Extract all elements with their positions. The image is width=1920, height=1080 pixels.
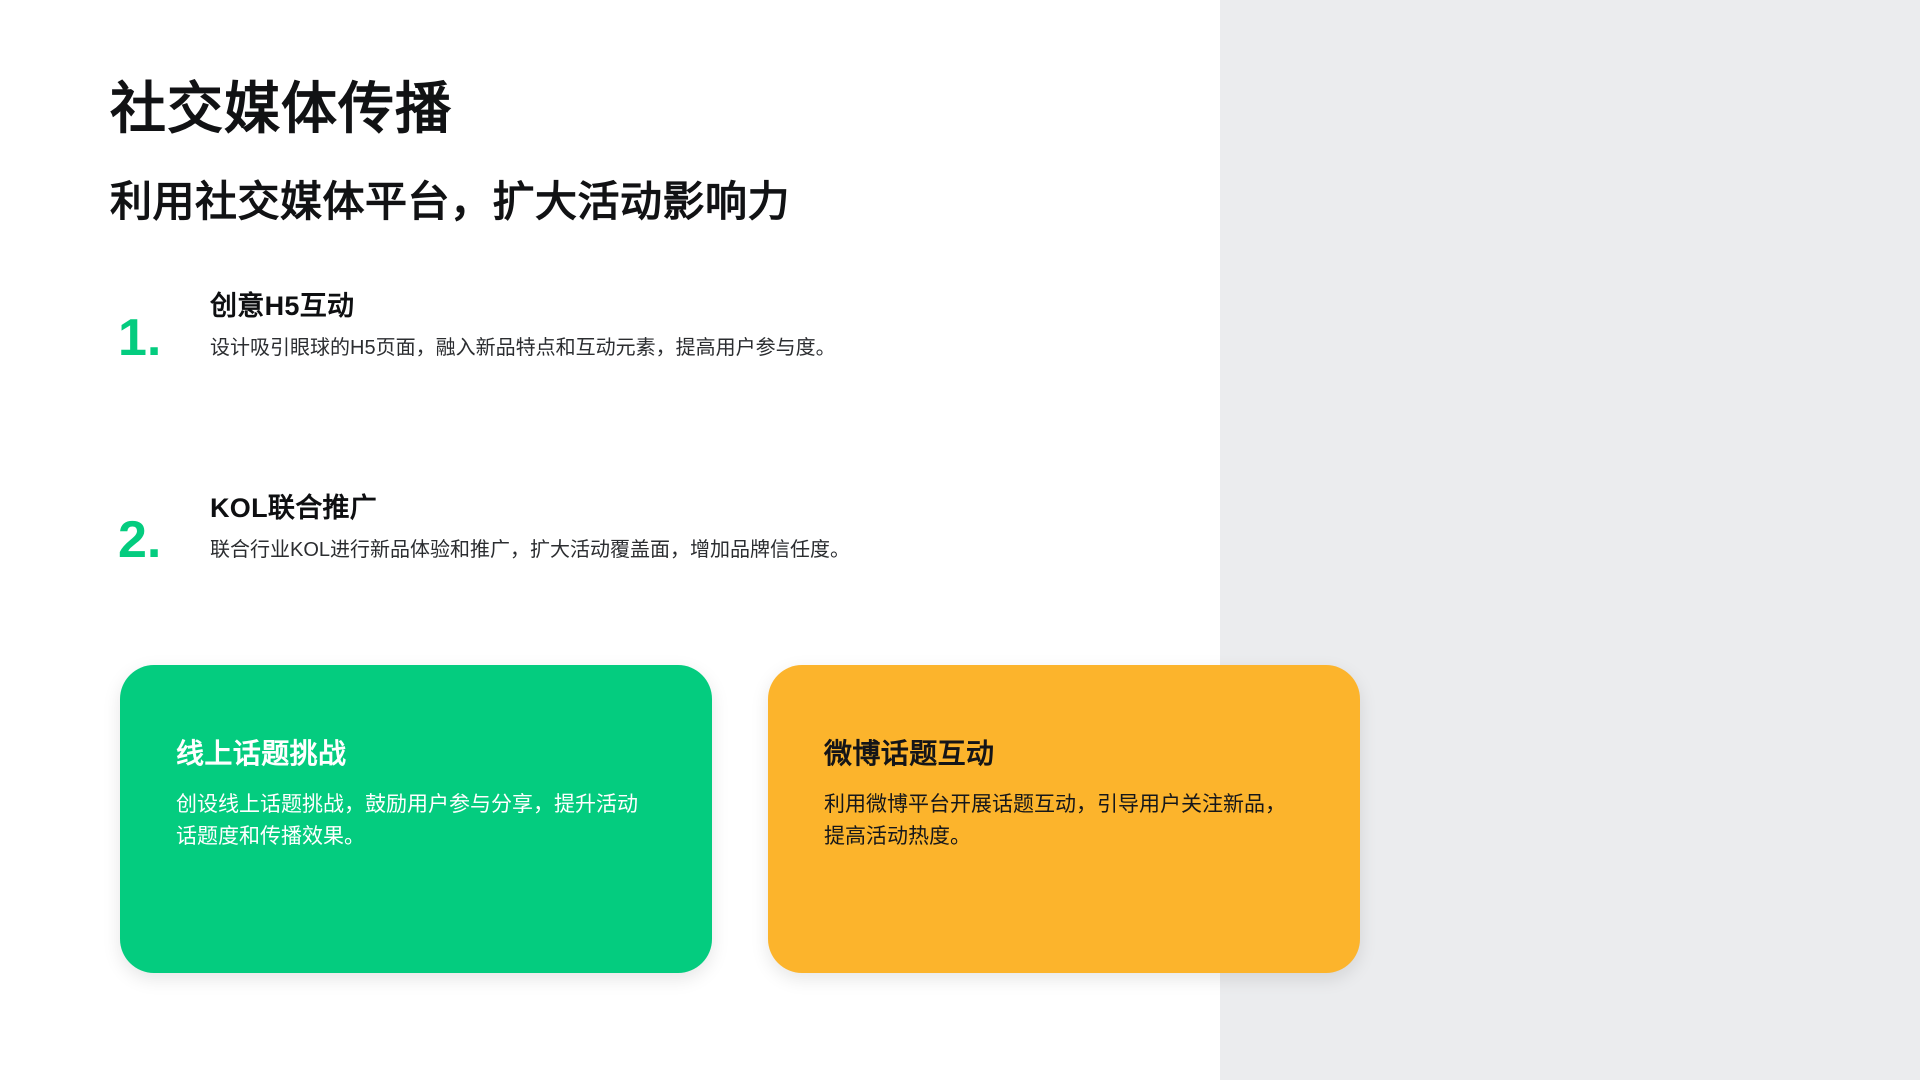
list-item-number: 1. xyxy=(118,312,204,364)
card-description: 利用微博平台开展话题互动，引导用户关注新品，提高活动热度。 xyxy=(824,789,1294,853)
card-description: 创设线上话题挑战，鼓励用户参与分享，提升活动话题度和传播效果。 xyxy=(176,789,646,853)
slide-canvas: 70 % 创意 65 % 合作 xyxy=(0,0,1920,1080)
numbered-list: 1. 创意H5互动 设计吸引眼球的H5页面，融入新品特点和互动元素，提高用户参与… xyxy=(110,290,1130,642)
card-weibo-topic-interaction[interactable]: 微博话题互动 利用微博平台开展话题互动，引导用户关注新品，提高活动热度。 xyxy=(768,665,1360,973)
page-title: 社交媒体传播 xyxy=(110,78,452,140)
page-subtitle: 利用社交媒体平台，扩大活动影响力 xyxy=(110,178,790,226)
list-item-description: 联合行业KOL进行新品体验和推广，扩大活动覆盖面，增加品牌信任度。 xyxy=(210,536,1130,565)
card-online-topic-challenge[interactable]: 线上话题挑战 创设线上话题挑战，鼓励用户参与分享，提升活动话题度和传播效果。 xyxy=(120,665,712,973)
list-item-description: 设计吸引眼球的H5页面，融入新品特点和互动元素，提高用户参与度。 xyxy=(210,334,1130,363)
list-item-number: 2. xyxy=(118,514,204,566)
card-title: 线上话题挑战 xyxy=(176,737,662,771)
list-item-heading: 创意H5互动 xyxy=(210,290,1130,322)
list-item-heading: KOL联合推广 xyxy=(210,492,1130,524)
list-item: 2. KOL联合推广 联合行业KOL进行新品体验和推广，扩大活动覆盖面，增加品牌… xyxy=(110,492,1130,642)
list-item: 1. 创意H5互动 设计吸引眼球的H5页面，融入新品特点和互动元素，提高用户参与… xyxy=(110,290,1130,440)
card-title: 微博话题互动 xyxy=(824,737,1310,771)
